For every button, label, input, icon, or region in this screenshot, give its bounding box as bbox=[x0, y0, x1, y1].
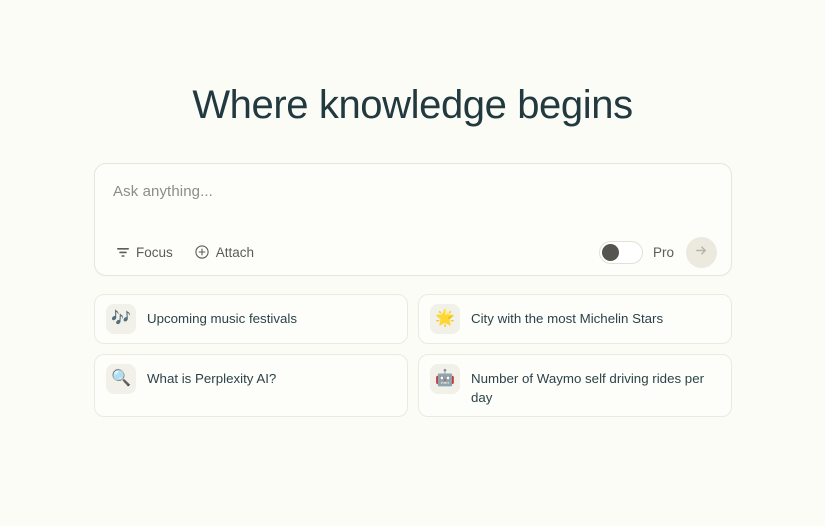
focus-button[interactable]: Focus bbox=[111, 241, 177, 264]
pro-label: Pro bbox=[653, 245, 674, 260]
search-toolbar-right: Pro bbox=[599, 237, 717, 268]
home-page: Where knowledge begins Ask anything... F… bbox=[0, 0, 825, 526]
page-title: Where knowledge begins bbox=[0, 80, 825, 130]
robot-icon: 🤖 bbox=[430, 364, 460, 394]
suggestion-label: What is Perplexity AI? bbox=[147, 364, 276, 388]
search-card[interactable]: Ask anything... Focus bbox=[94, 163, 732, 276]
attach-button[interactable]: Attach bbox=[191, 241, 258, 264]
filter-icon bbox=[115, 245, 130, 260]
submit-button[interactable] bbox=[686, 237, 717, 268]
suggestion-label: Upcoming music festivals bbox=[147, 304, 297, 328]
arrow-right-icon bbox=[694, 243, 709, 261]
suggestion-item-music-festivals[interactable]: 🎶 Upcoming music festivals bbox=[94, 294, 408, 344]
search-input-placeholder[interactable]: Ask anything... bbox=[113, 183, 213, 200]
suggestion-label: City with the most Michelin Stars bbox=[471, 304, 663, 328]
glowing-star-icon: 🌟 bbox=[430, 304, 460, 334]
search-toolbar: Focus Attach Pro bbox=[95, 229, 731, 275]
suggestion-label: Number of Waymo self driving rides per d… bbox=[471, 364, 719, 407]
suggestion-list: 🎶 Upcoming music festivals 🌟 City with t… bbox=[94, 294, 733, 417]
suggestion-item-waymo-rides[interactable]: 🤖 Number of Waymo self driving rides per… bbox=[418, 354, 732, 417]
pro-toggle[interactable] bbox=[599, 241, 643, 264]
circle-plus-icon bbox=[195, 245, 210, 260]
attach-label: Attach bbox=[216, 245, 254, 260]
suggestion-item-michelin-stars[interactable]: 🌟 City with the most Michelin Stars bbox=[418, 294, 732, 344]
magnifying-glass-icon: 🔍 bbox=[106, 364, 136, 394]
music-notes-icon: 🎶 bbox=[106, 304, 136, 334]
pro-toggle-knob bbox=[602, 244, 619, 261]
focus-label: Focus bbox=[136, 245, 173, 260]
suggestion-item-perplexity-ai[interactable]: 🔍 What is Perplexity AI? bbox=[94, 354, 408, 417]
